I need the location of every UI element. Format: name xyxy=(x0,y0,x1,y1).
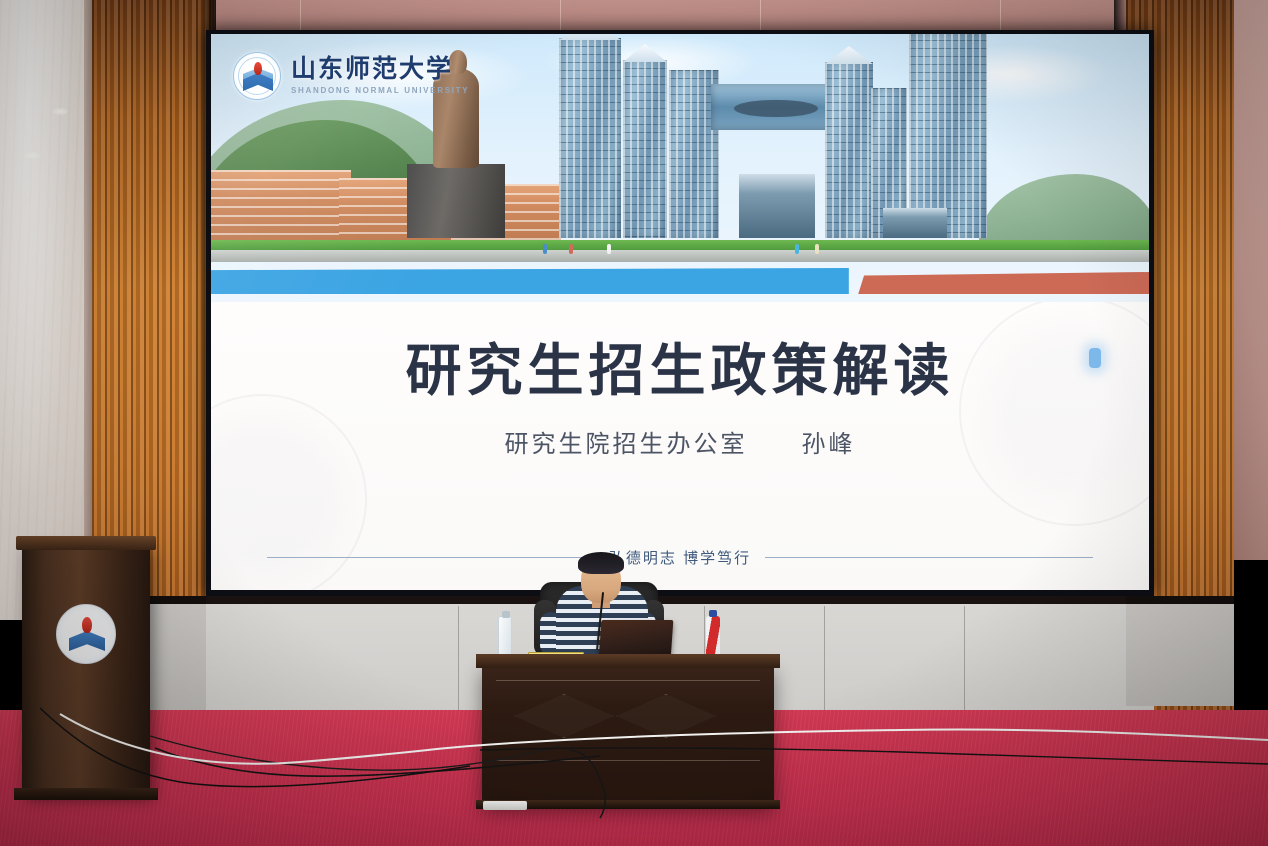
glass-tower-4 xyxy=(825,62,873,238)
desk-top-trim xyxy=(476,654,780,668)
slide-subtitle: 研究生院招生办公室 孙峰 xyxy=(211,424,1149,459)
bottle-cap-icon xyxy=(502,611,510,618)
projection-screen[interactable]: 山东师范大学 SHANDONG NORMAL UNIVERSITY 研究生招生政… xyxy=(211,34,1149,590)
slide-banner-photo: 山东师范大学 SHANDONG NORMAL UNIVERSITY xyxy=(211,34,1149,302)
university-name-cn: 山东师范大学 xyxy=(291,57,469,83)
power-strip xyxy=(483,801,527,810)
podium-top xyxy=(16,536,156,550)
speaker-podium[interactable] xyxy=(22,544,150,794)
slide-footer: 弘德明志 博学笃行 xyxy=(267,547,1093,568)
sky-bridge xyxy=(711,84,841,130)
presenter-hair xyxy=(578,552,624,574)
ceiling-downlight xyxy=(52,108,68,115)
glass-tower-2 xyxy=(623,60,667,238)
lecture-hall-scene: 山东师范大学 SHANDONG NORMAL UNIVERSITY 研究生招生政… xyxy=(0,0,1268,846)
footer-rule-right xyxy=(765,557,1093,558)
pedestrian xyxy=(815,244,819,254)
lower-wall-right xyxy=(1126,596,1234,706)
desk-inlay-diamond xyxy=(616,694,716,738)
presenter-desk xyxy=(482,664,774,804)
slide-color-bar xyxy=(211,262,1149,302)
tower-cap-1 xyxy=(559,34,621,40)
pedestrian xyxy=(795,244,799,254)
slide-content-area: 研究生招生政策解读 研究生院招生办公室 孙峰 弘德明志 博学笃行 xyxy=(211,302,1149,590)
slide-title: 研究生招生政策解读 xyxy=(211,326,1149,407)
university-logo: 山东师范大学 SHANDONG NORMAL UNIVERSITY xyxy=(233,52,469,100)
university-name-en: SHANDONG NORMAL UNIVERSITY xyxy=(291,86,469,95)
footer-rule-left xyxy=(267,557,595,558)
left-marble-wall xyxy=(0,0,92,620)
glass-tower-1 xyxy=(559,38,621,238)
color-bar-red xyxy=(858,272,1149,294)
ceiling-downlight xyxy=(24,152,40,159)
bottle-cap-icon xyxy=(709,610,717,617)
sdnu-emblem-icon xyxy=(56,604,116,664)
desk-inlay-diamond xyxy=(514,694,614,738)
slide-motto: 弘德明志 博学笃行 xyxy=(609,547,751,568)
pedestrian xyxy=(569,244,573,254)
sdnu-emblem-icon xyxy=(233,52,281,100)
color-bar-blue xyxy=(211,268,849,294)
pedestrian xyxy=(543,244,547,254)
right-wall xyxy=(1234,0,1268,560)
tower-entrance xyxy=(739,174,815,238)
plaza-pavement xyxy=(211,250,1149,262)
tower-cap-4 xyxy=(825,46,873,64)
podium-base xyxy=(14,788,158,800)
pedestrian xyxy=(607,244,611,254)
